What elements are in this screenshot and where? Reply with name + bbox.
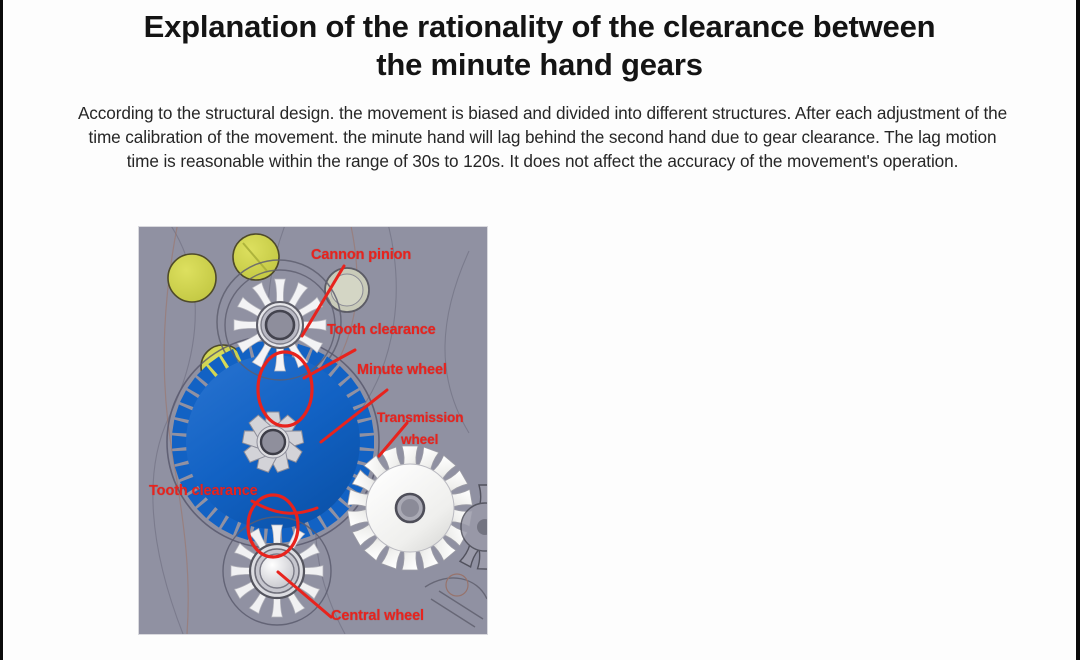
page-title: Explanation of the rationality of the cl… (94, 8, 985, 84)
label-transmission-wheel-line1: Transmission (377, 409, 463, 426)
label-transmission-wheel-line2: wheel (401, 431, 438, 448)
slide-canvas: Explanation of the rationality of the cl… (4, 0, 1075, 660)
label-tooth-clearance-bottom: Tooth clearance (149, 483, 258, 500)
gear-diagram-figure: Cannon pinion Tooth clearance Minute whe… (139, 227, 487, 634)
page-title-line-2: the minute hand gears (376, 47, 703, 82)
page-title-line-1: Explanation of the rationality of the cl… (144, 9, 936, 44)
label-minute-wheel: Minute wheel (357, 362, 447, 379)
right-edge-bar (1076, 0, 1080, 660)
label-tooth-clearance-top: Tooth clearance (327, 322, 436, 339)
left-edge-bar (0, 0, 3, 660)
label-central-wheel: Central wheel (331, 608, 424, 625)
cannon-pinion-gear (225, 270, 335, 380)
body-paragraph: According to the structural design. the … (76, 101, 1009, 173)
label-cannon-pinion: Cannon pinion (311, 247, 411, 264)
transmission-wheel-gear (348, 446, 473, 570)
